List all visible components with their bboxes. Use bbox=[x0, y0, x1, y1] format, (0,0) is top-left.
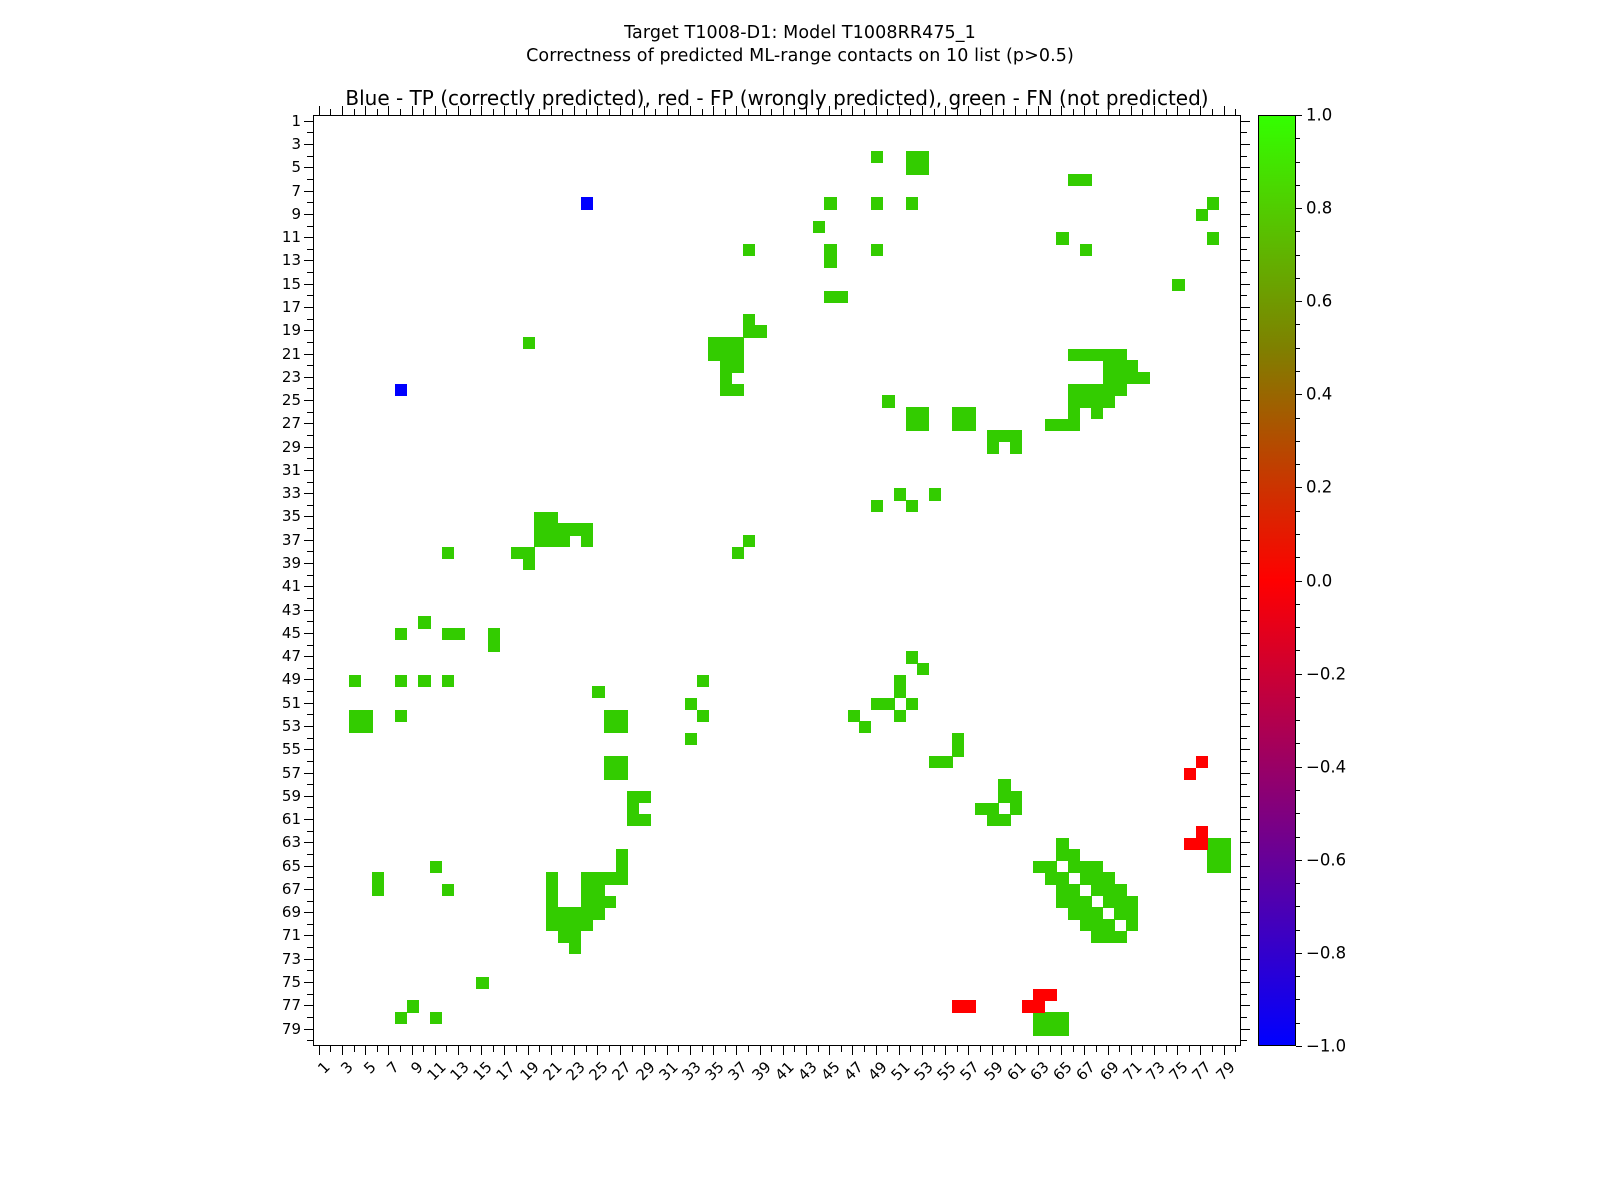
contact-cell-fn bbox=[523, 337, 535, 349]
y-tick-label: 79 bbox=[253, 1020, 301, 1038]
contact-cell-fn bbox=[720, 349, 732, 361]
colorbar-minor-tick bbox=[1296, 348, 1300, 349]
contact-cell-fn bbox=[604, 872, 616, 884]
contact-cell-fn bbox=[1091, 384, 1103, 396]
colorbar-minor-tick bbox=[1296, 743, 1300, 744]
contact-cell-fn bbox=[592, 872, 604, 884]
contact-cell-fn bbox=[581, 872, 593, 884]
contact-cell-fn bbox=[952, 744, 964, 756]
contact-cell-fn bbox=[720, 384, 732, 396]
x-tick-top bbox=[1050, 109, 1051, 115]
contact-cell-fn bbox=[1056, 1024, 1068, 1036]
contact-cell-fn bbox=[604, 768, 616, 780]
y-tick-right bbox=[1241, 214, 1250, 215]
contact-cell-fn bbox=[1068, 174, 1080, 186]
y-tick-label: 53 bbox=[253, 717, 301, 735]
contact-cell-fn bbox=[395, 628, 407, 640]
x-tick bbox=[655, 1046, 656, 1052]
x-tick bbox=[794, 1046, 795, 1052]
contact-cell-fn bbox=[558, 535, 570, 547]
x-tick-top bbox=[910, 109, 911, 115]
y-tick-right bbox=[1241, 132, 1247, 133]
contact-cell-fn bbox=[848, 710, 860, 722]
x-tick-top bbox=[655, 109, 656, 115]
contact-cell-fp bbox=[1196, 826, 1208, 838]
x-tick bbox=[841, 1046, 842, 1052]
y-tick-label: 27 bbox=[253, 414, 301, 432]
x-tick-top bbox=[1212, 109, 1213, 115]
y-tick-right bbox=[1241, 889, 1250, 890]
contact-cell-fn bbox=[917, 663, 929, 675]
contact-cell-fn bbox=[581, 535, 593, 547]
contact-cell-fn bbox=[1103, 349, 1115, 361]
contact-cell-fn bbox=[743, 325, 755, 337]
contact-cell-fn bbox=[998, 814, 1010, 826]
contact-cell-fn bbox=[1103, 372, 1115, 384]
y-tick bbox=[307, 132, 313, 133]
y-tick-right bbox=[1241, 307, 1250, 308]
contact-cell-fn bbox=[1103, 360, 1115, 372]
contact-cell-fn bbox=[488, 628, 500, 640]
y-tick-right bbox=[1241, 365, 1247, 366]
y-tick-right bbox=[1241, 470, 1250, 471]
figure-title-line-2: Correctness of predicted ML-range contac… bbox=[0, 45, 1600, 68]
contact-cell-fp bbox=[1045, 989, 1057, 1001]
x-tick bbox=[702, 1046, 703, 1052]
x-tick bbox=[1166, 1046, 1167, 1052]
contact-cell-fn bbox=[1207, 232, 1219, 244]
y-tick-right bbox=[1241, 668, 1247, 669]
y-tick-right bbox=[1241, 377, 1250, 378]
y-tick-label: 23 bbox=[253, 368, 301, 386]
colorbar-tick-label: 0.4 bbox=[1306, 385, 1332, 404]
contact-cell-fn bbox=[720, 360, 732, 372]
contact-cell-fn bbox=[511, 547, 523, 559]
x-tick bbox=[760, 1046, 761, 1055]
contact-cell-fn bbox=[546, 523, 558, 535]
y-tick bbox=[307, 645, 313, 646]
contact-cell-fn bbox=[581, 884, 593, 896]
contact-cell-fn bbox=[418, 616, 430, 628]
contact-cell-fn bbox=[1103, 872, 1115, 884]
contact-cell-fn bbox=[546, 896, 558, 908]
contact-cell-fn bbox=[407, 1000, 419, 1012]
x-tick-top bbox=[1073, 109, 1074, 115]
contact-cell-fn bbox=[1196, 209, 1208, 221]
x-tick bbox=[1108, 1046, 1109, 1055]
y-tick-label: 9 bbox=[253, 205, 301, 223]
y-tick-label: 49 bbox=[253, 670, 301, 688]
contact-cell-fn bbox=[558, 523, 570, 535]
y-tick bbox=[304, 842, 313, 843]
contact-cell-fn bbox=[940, 756, 952, 768]
x-tick-top bbox=[1154, 106, 1155, 115]
contact-cell-fn bbox=[894, 675, 906, 687]
y-tick-right bbox=[1241, 284, 1250, 285]
x-tick-top bbox=[887, 109, 888, 115]
y-tick bbox=[307, 505, 313, 506]
x-tick bbox=[481, 1046, 482, 1055]
contact-cell-fn bbox=[906, 419, 918, 431]
colorbar-tick-label: 0.6 bbox=[1306, 292, 1332, 311]
contact-cell-fn bbox=[917, 151, 929, 163]
x-tick bbox=[446, 1046, 447, 1052]
x-tick-top bbox=[504, 106, 505, 115]
y-tick-label: 77 bbox=[253, 996, 301, 1014]
y-tick-label: 41 bbox=[253, 577, 301, 595]
x-tick-top bbox=[876, 106, 877, 115]
x-tick-top bbox=[841, 109, 842, 115]
x-tick bbox=[736, 1046, 737, 1055]
contact-cell-fn bbox=[975, 803, 987, 815]
contact-cell-fp bbox=[1196, 838, 1208, 850]
x-tick-top bbox=[1096, 109, 1097, 115]
x-tick-top bbox=[574, 106, 575, 115]
y-tick bbox=[307, 1017, 313, 1018]
y-tick-label: 33 bbox=[253, 484, 301, 502]
x-tick-top bbox=[818, 109, 819, 115]
contact-cell-fn bbox=[395, 710, 407, 722]
x-tick-top bbox=[539, 109, 540, 115]
contact-cell-fn bbox=[616, 768, 628, 780]
y-tick-right bbox=[1241, 575, 1247, 576]
x-tick bbox=[1189, 1046, 1190, 1052]
y-tick-label: 31 bbox=[253, 461, 301, 479]
contact-cell-fn bbox=[604, 721, 616, 733]
x-tick-top bbox=[864, 109, 865, 115]
colorbar-tick bbox=[1296, 301, 1302, 302]
y-tick bbox=[304, 470, 313, 471]
x-tick-top bbox=[1003, 109, 1004, 115]
x-tick bbox=[934, 1046, 935, 1052]
contact-cell-fn bbox=[627, 803, 639, 815]
contact-cell-fn bbox=[1010, 803, 1022, 815]
contact-cell-fn bbox=[546, 907, 558, 919]
y-tick-right bbox=[1241, 1029, 1250, 1030]
x-tick-top bbox=[899, 106, 900, 115]
y-tick bbox=[304, 121, 313, 122]
colorbar-minor-tick bbox=[1296, 511, 1300, 512]
contact-cell-fn bbox=[720, 337, 732, 349]
y-tick bbox=[307, 994, 313, 995]
x-tick-top bbox=[713, 106, 714, 115]
x-tick-top bbox=[922, 106, 923, 115]
contact-cell-fn bbox=[1068, 395, 1080, 407]
contact-cell-fn bbox=[1010, 442, 1022, 454]
figure-title-line-1: Target T1008-D1: Model T1008RR475_1 bbox=[0, 22, 1600, 45]
x-tick-top bbox=[423, 109, 424, 115]
y-tick bbox=[307, 412, 313, 413]
y-tick-right bbox=[1241, 458, 1247, 459]
contact-cell-fn bbox=[1056, 884, 1068, 896]
x-tick bbox=[493, 1046, 494, 1052]
contact-cell-fn bbox=[1207, 861, 1219, 873]
y-tick-right bbox=[1241, 435, 1247, 436]
colorbar-minor-tick bbox=[1296, 976, 1300, 977]
y-tick-right bbox=[1241, 260, 1250, 261]
contact-cell-fp bbox=[1022, 1000, 1034, 1012]
x-tick-top bbox=[400, 109, 401, 115]
y-tick-label: 29 bbox=[253, 438, 301, 456]
contact-cell-fn bbox=[430, 1012, 442, 1024]
x-tick bbox=[458, 1046, 459, 1055]
y-tick-right bbox=[1241, 540, 1250, 541]
contact-cell-fn bbox=[1091, 907, 1103, 919]
contact-cell-fn bbox=[569, 907, 581, 919]
contact-cell-fn bbox=[1045, 872, 1057, 884]
colorbar-tick bbox=[1296, 487, 1302, 488]
y-tick-right bbox=[1241, 691, 1247, 692]
colorbar-minor-tick bbox=[1296, 1023, 1300, 1024]
x-tick-top bbox=[493, 109, 494, 115]
contact-cell-fn bbox=[1126, 360, 1138, 372]
y-tick bbox=[307, 691, 313, 692]
y-tick bbox=[307, 435, 313, 436]
contact-cell-fn bbox=[824, 291, 836, 303]
contact-cell-fn bbox=[929, 756, 941, 768]
contact-cell-fn bbox=[871, 244, 883, 256]
contact-cell-fn bbox=[569, 523, 581, 535]
x-tick-top bbox=[551, 106, 552, 115]
contact-cell-fn bbox=[349, 675, 361, 687]
y-tick bbox=[304, 1005, 313, 1006]
y-tick-right bbox=[1241, 586, 1250, 587]
contact-cell-fn bbox=[430, 861, 442, 873]
y-tick-label: 59 bbox=[253, 787, 301, 805]
colorbar-tick bbox=[1296, 581, 1302, 582]
x-tick bbox=[818, 1046, 819, 1052]
x-tick bbox=[725, 1046, 726, 1052]
x-tick bbox=[516, 1046, 517, 1052]
y-tick bbox=[304, 354, 313, 355]
y-tick-right bbox=[1241, 959, 1250, 960]
y-tick-label: 1 bbox=[253, 112, 301, 130]
y-tick-right bbox=[1241, 493, 1250, 494]
x-tick-top bbox=[957, 109, 958, 115]
contact-cell-fn bbox=[592, 884, 604, 896]
y-tick-right bbox=[1241, 714, 1247, 715]
x-tick bbox=[910, 1046, 911, 1052]
x-tick bbox=[1050, 1046, 1051, 1052]
x-tick-top bbox=[945, 106, 946, 115]
x-tick bbox=[319, 1046, 320, 1055]
contact-cell-fn bbox=[755, 325, 767, 337]
x-tick-top bbox=[829, 106, 830, 115]
y-tick bbox=[304, 726, 313, 727]
x-tick bbox=[1026, 1046, 1027, 1052]
y-tick-right bbox=[1241, 679, 1250, 680]
contact-cell-fn bbox=[558, 931, 570, 943]
y-tick bbox=[307, 365, 313, 366]
colorbar-minor-tick bbox=[1296, 231, 1300, 232]
y-tick-right bbox=[1241, 656, 1250, 657]
contact-map-plot-area[interactable] bbox=[313, 115, 1241, 1046]
y-tick-right bbox=[1241, 819, 1250, 820]
x-tick bbox=[1119, 1046, 1120, 1052]
y-tick-label: 15 bbox=[253, 275, 301, 293]
contact-cell-fn bbox=[732, 337, 744, 349]
y-tick-right bbox=[1241, 633, 1250, 634]
contact-cell-fn bbox=[442, 628, 454, 640]
contact-cell-fn bbox=[1056, 419, 1068, 431]
y-tick bbox=[304, 959, 313, 960]
y-tick-right bbox=[1241, 167, 1250, 168]
y-tick bbox=[307, 901, 313, 902]
x-tick bbox=[632, 1046, 633, 1052]
colorbar-tick bbox=[1296, 674, 1302, 675]
contact-cell-fn bbox=[1103, 931, 1115, 943]
contact-cell-fn bbox=[372, 884, 384, 896]
y-tick bbox=[304, 586, 313, 587]
x-tick-top bbox=[458, 106, 459, 115]
contact-cell-fn bbox=[732, 360, 744, 372]
y-tick bbox=[307, 761, 313, 762]
contact-cell-fn bbox=[395, 675, 407, 687]
contact-cell-fn bbox=[743, 535, 755, 547]
x-tick-top bbox=[1200, 106, 1201, 115]
contact-cell-fn bbox=[1114, 896, 1126, 908]
contact-cell-fn bbox=[952, 419, 964, 431]
x-tick-top bbox=[852, 106, 853, 115]
contact-cell-fn bbox=[836, 291, 848, 303]
contact-cell-fn bbox=[685, 733, 697, 745]
contact-cell-fn bbox=[906, 151, 918, 163]
x-tick-top bbox=[620, 106, 621, 115]
x-tick bbox=[377, 1046, 378, 1052]
y-tick-right bbox=[1241, 947, 1247, 948]
contact-cell-fn bbox=[1091, 395, 1103, 407]
y-tick-right bbox=[1241, 749, 1250, 750]
y-tick bbox=[307, 249, 313, 250]
colorbar-tick-label: −0.6 bbox=[1306, 850, 1346, 869]
contact-cell-fn bbox=[360, 710, 372, 722]
y-tick-right bbox=[1241, 621, 1247, 622]
contact-cell-fn bbox=[1068, 861, 1080, 873]
colorbar-tick-label: 0.2 bbox=[1306, 478, 1332, 497]
contact-cell-fn bbox=[1045, 419, 1057, 431]
y-tick bbox=[304, 214, 313, 215]
contact-cell-fn bbox=[732, 349, 744, 361]
y-tick bbox=[307, 528, 313, 529]
y-tick bbox=[304, 866, 313, 867]
colorbar-minor-tick bbox=[1296, 650, 1300, 651]
y-tick-label: 11 bbox=[253, 228, 301, 246]
colorbar-minor-tick bbox=[1296, 255, 1300, 256]
x-tick-top bbox=[354, 109, 355, 115]
colorbar-minor-tick bbox=[1296, 930, 1300, 931]
contact-cell-fn bbox=[732, 547, 744, 559]
contact-cell-fn bbox=[616, 872, 628, 884]
contact-cell-fn bbox=[534, 512, 546, 524]
x-tick-top bbox=[667, 106, 668, 115]
contact-cell-fn bbox=[442, 884, 454, 896]
y-tick-right bbox=[1241, 854, 1247, 855]
colorbar-minor-tick bbox=[1296, 906, 1300, 907]
contact-cell-fn bbox=[546, 884, 558, 896]
contact-cell-fn bbox=[1126, 907, 1138, 919]
contact-cell-fn bbox=[1138, 372, 1150, 384]
x-tick bbox=[690, 1046, 691, 1055]
contact-cell-fn bbox=[1080, 384, 1092, 396]
x-tick bbox=[539, 1046, 540, 1052]
contact-cell-fn bbox=[1080, 349, 1092, 361]
contact-cell-fn bbox=[1207, 849, 1219, 861]
colorbar-minor-tick bbox=[1296, 138, 1300, 139]
colorbar-minor-tick bbox=[1296, 790, 1300, 791]
y-tick-right bbox=[1241, 528, 1247, 529]
y-tick bbox=[304, 284, 313, 285]
colorbar-tick bbox=[1296, 394, 1302, 395]
contact-cell-fn bbox=[859, 721, 871, 733]
contact-cell-fn bbox=[871, 698, 883, 710]
colorbar-minor-tick bbox=[1296, 999, 1300, 1000]
contact-cell-fn bbox=[882, 698, 894, 710]
contact-cells-layer bbox=[314, 116, 1240, 1045]
y-tick bbox=[304, 167, 313, 168]
contact-cell-fn bbox=[882, 395, 894, 407]
y-tick bbox=[304, 633, 313, 634]
contact-cell-fn bbox=[1056, 232, 1068, 244]
contact-cell-fn bbox=[871, 197, 883, 209]
contact-cell-fn bbox=[1068, 407, 1080, 419]
x-tick bbox=[1073, 1046, 1074, 1052]
colorbar-minor-tick bbox=[1296, 883, 1300, 884]
contact-cell-fn bbox=[546, 919, 558, 931]
y-tick-label: 43 bbox=[253, 601, 301, 619]
x-tick bbox=[1212, 1046, 1213, 1052]
y-tick-label: 3 bbox=[253, 135, 301, 153]
x-tick-top bbox=[1038, 106, 1039, 115]
x-tick bbox=[330, 1046, 331, 1052]
y-tick bbox=[304, 144, 313, 145]
contact-cell-fn bbox=[1103, 395, 1115, 407]
y-tick-right bbox=[1241, 400, 1250, 401]
contact-cell-fn bbox=[1080, 861, 1092, 873]
y-tick bbox=[304, 237, 313, 238]
colorbar-minor-tick bbox=[1296, 278, 1300, 279]
colorbar-tick-label: 0.0 bbox=[1306, 571, 1332, 590]
colorbar-tick bbox=[1296, 208, 1302, 209]
x-tick-top bbox=[528, 106, 529, 115]
y-tick bbox=[304, 377, 313, 378]
colorbar-minor-tick bbox=[1296, 464, 1300, 465]
colorbar[interactable] bbox=[1258, 115, 1296, 1046]
y-tick-label: 71 bbox=[253, 926, 301, 944]
contact-cell-fn bbox=[442, 547, 454, 559]
contact-cell-fn bbox=[581, 523, 593, 535]
contact-cell-fn bbox=[453, 628, 465, 640]
x-tick-top bbox=[771, 109, 772, 115]
x-tick-top bbox=[678, 109, 679, 115]
y-tick bbox=[304, 982, 313, 983]
y-tick-right bbox=[1241, 482, 1247, 483]
contact-cell-fn bbox=[592, 686, 604, 698]
contact-cell-fn bbox=[906, 407, 918, 419]
y-tick-label: 63 bbox=[253, 833, 301, 851]
y-tick bbox=[307, 156, 313, 157]
contact-cell-fn bbox=[616, 710, 628, 722]
x-tick-top bbox=[412, 106, 413, 115]
x-tick bbox=[470, 1046, 471, 1052]
contact-cell-fp bbox=[1184, 768, 1196, 780]
y-tick-right bbox=[1241, 831, 1247, 832]
contact-cell-fn bbox=[546, 535, 558, 547]
contact-cell-fn bbox=[546, 512, 558, 524]
y-tick-label: 7 bbox=[253, 182, 301, 200]
x-tick-top bbox=[760, 106, 761, 115]
contact-cell-fn bbox=[1010, 791, 1022, 803]
x-tick bbox=[864, 1046, 865, 1052]
